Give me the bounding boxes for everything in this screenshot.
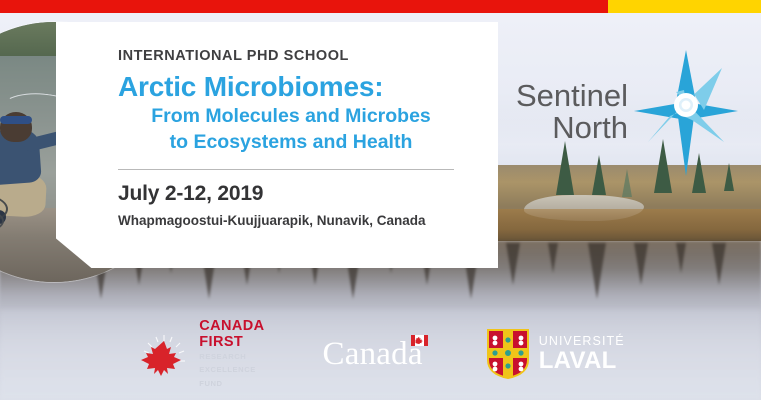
laval-wordmark: UNIVERSITÉ LAVAL bbox=[539, 335, 625, 373]
tree-reflection bbox=[548, 243, 558, 273]
canada-wordmark: Canada bbox=[323, 336, 423, 373]
canada-flag-icon bbox=[411, 335, 428, 346]
cfref-line-3: RESEARCH bbox=[199, 352, 264, 362]
logo-canada-first-research-excellence-fund: CANADA FIRST RESEARCH EXCELLENCE FUND bbox=[136, 319, 264, 389]
cfref-rays-icon bbox=[136, 329, 192, 379]
tree-reflection bbox=[712, 243, 726, 285]
tree-reflection bbox=[676, 243, 686, 273]
subtitle-line-1: From Molecules and Microbes bbox=[116, 105, 466, 129]
compass-star-icon bbox=[634, 50, 738, 176]
logo-government-of-canada: Canada bbox=[323, 336, 428, 373]
event-location: Whapmagoostui-Kuujjuarapik, Nunavik, Can… bbox=[118, 213, 502, 228]
top-color-bar bbox=[0, 0, 761, 13]
cfref-line-1: CANADA bbox=[199, 319, 264, 334]
eyebrow-label: INTERNATIONAL PHD SCHOOL bbox=[118, 48, 502, 64]
page-title: Arctic Microbiomes: bbox=[118, 72, 502, 102]
cfref-line-5: FUND bbox=[199, 379, 264, 389]
cfref-wordmark: CANADA FIRST RESEARCH EXCELLENCE FUND bbox=[199, 319, 264, 389]
logo-universite-laval: UNIVERSITÉ LAVAL bbox=[486, 328, 625, 380]
laval-line-1: UNIVERSITÉ bbox=[539, 335, 625, 348]
tree-reflection bbox=[588, 243, 606, 299]
maple-leaf-icon bbox=[141, 341, 181, 376]
laval-line-2: LAVAL bbox=[539, 349, 625, 373]
subtitle-line-2: to Ecosystems and Health bbox=[116, 131, 466, 155]
event-dates: July 2-12, 2019 bbox=[118, 182, 502, 206]
title-panel-content: INTERNATIONAL PHD SCHOOL Arctic Microbio… bbox=[118, 48, 502, 228]
event-banner: INTERNATIONAL PHD SCHOOL Arctic Microbio… bbox=[0, 0, 761, 400]
divider-rule bbox=[118, 169, 454, 170]
flag-right-bar bbox=[424, 335, 428, 346]
sentinel-north-line-2: North bbox=[516, 112, 628, 144]
tree-reflection bbox=[634, 243, 648, 285]
top-bar-red-segment bbox=[0, 0, 608, 13]
researcher-headband bbox=[0, 116, 32, 124]
partner-logos: CANADA FIRST RESEARCH EXCELLENCE FUND Ca… bbox=[0, 316, 761, 392]
sentinel-north-wordmark: Sentinel North bbox=[516, 80, 628, 143]
laval-coat-of-arms-icon bbox=[486, 328, 530, 380]
cfref-line-4: EXCELLENCE bbox=[199, 365, 264, 375]
cfref-line-2: FIRST bbox=[199, 335, 264, 350]
top-bar-yellow-segment bbox=[608, 0, 761, 13]
tree-reflection bbox=[506, 243, 520, 285]
cfref-emblem-icon bbox=[136, 329, 192, 379]
flag-maple-leaf-icon bbox=[416, 336, 423, 344]
flag-center bbox=[415, 335, 424, 346]
sentinel-north-logo: Sentinel North bbox=[516, 48, 738, 176]
sentinel-north-line-1: Sentinel bbox=[516, 80, 628, 112]
